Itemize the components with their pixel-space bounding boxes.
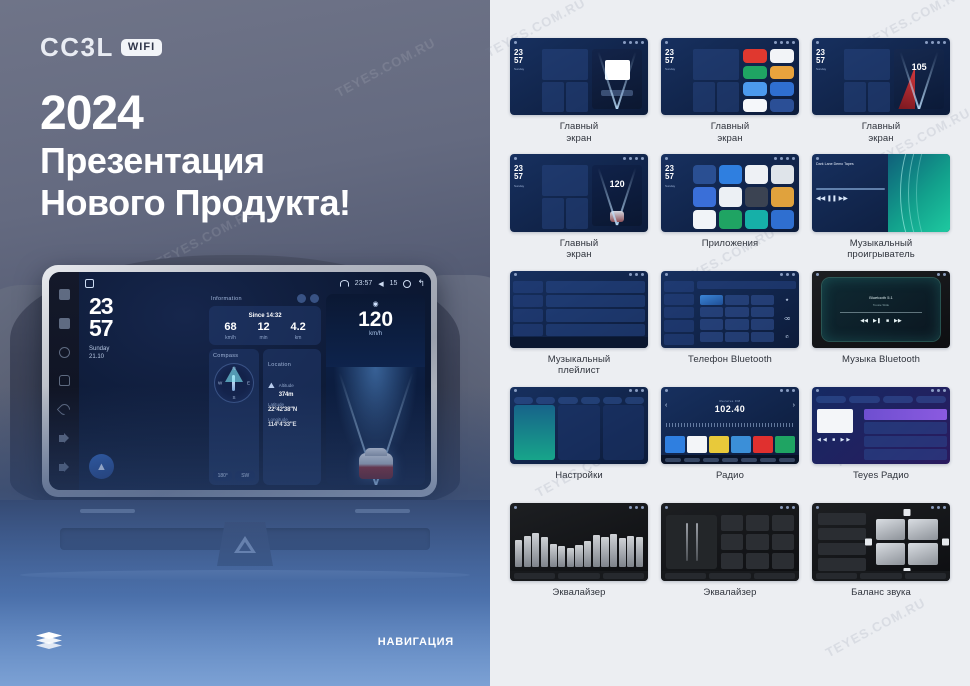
product-logo: CC3L WIFI (40, 32, 162, 63)
status-bar: 23:57 ◀ 15 ↰ (85, 277, 425, 290)
grid-item-label: Главныйэкран (560, 121, 599, 145)
head-unit: 23:57 ◀ 15 ↰ 23 57 Sunday (42, 265, 437, 497)
wifi-icon (340, 280, 349, 287)
clock-widget[interactable]: 23 57 Sunday 21.10 ▲ (85, 294, 204, 485)
compass-s: S (232, 395, 235, 400)
grid-item-label: Музыка Bluetooth (842, 354, 920, 378)
stat-speed: 68 km/h (224, 322, 236, 341)
compass-bearing: 180° (213, 471, 232, 481)
prev-icon: ◀◀ (860, 318, 868, 324)
volume-up-icon[interactable] (59, 462, 70, 473)
air-vent-right (250, 528, 430, 550)
carplay-card[interactable] (558, 405, 599, 460)
minus-icon[interactable] (59, 289, 70, 300)
clock-minutes: 57 (89, 318, 202, 340)
thumbnail-teyes-radio[interactable]: ◀◀ ■ ▶▶ (812, 387, 950, 464)
refresh-icon[interactable] (297, 294, 306, 303)
home-icon[interactable] (59, 375, 70, 386)
logo-text: CC3L (40, 32, 114, 63)
grid-item-label: Главныйэкран (862, 121, 901, 145)
player-controls[interactable]: ◀◀ ■ ▶▶ (817, 437, 852, 443)
track-title: Dark Lane Demo Tapes (816, 162, 885, 166)
preset-tiles[interactable] (665, 436, 795, 453)
speed-value: 120 (592, 179, 642, 189)
information-widget[interactable]: Information Since 14:32 (209, 294, 321, 345)
grid-item-label: Телефон Bluetooth (688, 354, 772, 378)
volume-icon: ◀ (378, 280, 383, 288)
hazard-button[interactable] (217, 522, 273, 566)
compass-e: E (247, 381, 250, 386)
navigation-arrow-icon[interactable]: ▲ (89, 454, 114, 479)
compass-direction: SW (235, 471, 254, 481)
prev-station-icon[interactable]: ‹ (665, 402, 667, 409)
bt-controls[interactable]: ◀◀▶❚■▶▶ (860, 318, 901, 324)
infotainment-screen[interactable]: 23:57 ◀ 15 ↰ 23 57 Sunday (79, 272, 431, 490)
latitude-value: 22°42'38"N (268, 407, 316, 413)
grid-item-label: Приложения (702, 238, 759, 262)
grid-item[interactable]: 2357Sunday 120 Главныйэкран (510, 154, 648, 261)
presentation-page: CC3L WIFI 2024 Презентация Нового Продук… (0, 0, 970, 686)
speed-unit: km/h (369, 331, 382, 337)
preset-buttons[interactable] (721, 515, 794, 568)
clock-day: Sunday (89, 345, 202, 353)
grid-item[interactable]: Настройки (510, 387, 648, 494)
compass-title: Compass (213, 353, 255, 359)
back-icon[interactable] (56, 402, 72, 418)
thumbnail-equalizer-2[interactable] (661, 503, 799, 580)
car-graphic (359, 453, 393, 479)
grid-item[interactable]: 2357Sunday 105 Главныйэкран (812, 38, 950, 145)
grid-item-label: Эквалайзер (703, 587, 756, 611)
compass-w: W (218, 381, 222, 386)
grid-item[interactable]: Баланс звука (812, 503, 950, 610)
stat-distance: 4.2 km (290, 322, 305, 341)
information-title: Information (211, 296, 242, 302)
grid-item[interactable]: Bluetooth 5.1 Toosie Slide ◀◀▶❚■▶▶ Музык… (812, 271, 950, 378)
thumbnail-bt-music[interactable]: Bluetooth 5.1 Toosie Slide ◀◀▶❚■▶▶ (812, 271, 950, 348)
thumbnail-music-player[interactable]: Dark Lane Demo Tapes ◀◀ ❚❚ ▶▶ (812, 154, 950, 231)
navigation-label: НАВИГАЦИЯ (378, 636, 454, 648)
air-vent-left (60, 528, 240, 550)
volume-down-icon[interactable] (59, 433, 70, 444)
grid-item[interactable]: ◀◀ ■ ▶▶ Teyes Радио (812, 387, 950, 494)
grid-item[interactable]: 2357Sunday Главныйэкран (661, 38, 799, 145)
grid-item[interactable]: Dark Lane Demo Tapes ◀◀ ❚❚ ▶▶ Музыкальны… (812, 154, 950, 261)
bt-track: Toosie Slide (873, 303, 889, 307)
fader-sliders[interactable] (666, 515, 717, 568)
grid-item-label: Teyes Радио (853, 470, 909, 494)
mountain-icon: ⛰ (268, 381, 275, 391)
altitude-value: 374m (279, 392, 294, 398)
compass-widget[interactable]: Compass N E S W (209, 349, 259, 485)
speed-value: 120 (358, 309, 393, 330)
minus-icon[interactable] (59, 318, 70, 329)
grid-item-label: Радио (716, 470, 744, 494)
thumbnail-balance[interactable] (812, 503, 950, 580)
thumbnail-home-apps[interactable]: 2357Sunday (661, 38, 799, 115)
play-icon: ▶❚ (873, 318, 881, 324)
stop-icon: ■ (886, 318, 889, 324)
back-icon[interactable]: ↰ (417, 279, 425, 288)
compass-rose-icon: N E S W (214, 363, 254, 403)
balance-right-button[interactable] (942, 538, 949, 545)
thumbnail-playlist[interactable] (510, 271, 648, 348)
music-visualizer (888, 154, 950, 231)
home-icon[interactable] (85, 279, 94, 288)
thumbnail-home-speed[interactable]: 2357Sunday 120 (510, 154, 648, 231)
longitude-value: 114°4'33"E (268, 422, 316, 428)
center-console (0, 500, 490, 686)
wifi-badge: WIFI (121, 39, 162, 56)
speed-value: 105 (894, 62, 944, 72)
call-icon[interactable]: ✆ (785, 334, 788, 339)
next-station-icon[interactable]: › (793, 402, 795, 409)
thumbnail-home-speed-red[interactable]: 2357Sunday 105 (812, 38, 950, 115)
gear-icon[interactable] (403, 280, 411, 288)
hero-line-1: Презентация (40, 140, 351, 182)
grid-item[interactable]: ★ ⌫ ✆ Телефон Bluetooth (661, 271, 799, 378)
layers-icon[interactable] (36, 632, 62, 652)
trip-stats: 68 km/h 12 min (214, 322, 316, 341)
compass-n: N (232, 366, 235, 371)
clock-date: 21.10 (89, 353, 202, 361)
grid-item-label: Главныйэкран (560, 238, 599, 262)
balance-left-button[interactable] (865, 538, 872, 545)
hazard-triangle-icon (234, 536, 256, 553)
backspace-icon[interactable]: ⌫ (784, 316, 790, 321)
next-icon: ▶▶ (894, 318, 902, 324)
hero-year: 2024 (40, 88, 351, 140)
hero-footer: НАВИГАЦИЯ (0, 632, 490, 652)
balance-presets[interactable] (818, 513, 866, 570)
location-title: Location (268, 362, 291, 368)
status-volume: 15 (390, 280, 398, 287)
grid-item[interactable]: Музыкальныйплейлист (510, 271, 648, 378)
player-dock[interactable] (510, 337, 648, 348)
more-card[interactable] (603, 405, 644, 460)
grid-item-label: Баланс звука (851, 587, 911, 611)
vent-highlight (80, 509, 135, 513)
radio-band: Receive FM (661, 399, 799, 403)
thumbnail-equalizer[interactable] (510, 503, 648, 580)
page-title: 2024 Презентация Нового Продукта! (40, 88, 351, 225)
expand-icon[interactable] (310, 294, 319, 303)
favorite-icon[interactable]: ★ (785, 297, 789, 302)
grid-item[interactable]: 2357Sunday Главныйэкран (510, 38, 648, 145)
status-time: 23:57 (355, 280, 373, 287)
side-button-rail[interactable] (49, 272, 79, 490)
speed-widget[interactable]: ◉ 120 km/h (326, 294, 425, 485)
grid-item[interactable]: 2357Sunday Приложения (661, 154, 799, 261)
hero-panel: CC3L WIFI 2024 Презентация Нового Продук… (0, 0, 490, 686)
stat-duration: 12 min (257, 322, 269, 341)
balance-up-button[interactable] (903, 509, 910, 516)
grid-item[interactable]: Эквалайзер (510, 503, 648, 610)
thumbnail-apps[interactable]: 2357Sunday (661, 154, 799, 231)
trip-since: Since 14:32 (214, 313, 316, 319)
screens-grid-panel: TEYES.COM.RU TEYES.COM.RU TEYES.COM.RU T… (490, 0, 970, 686)
grid-item-label: Музыкальныйпроигрыватель (847, 238, 915, 262)
altitude-label: Altitude (279, 383, 294, 388)
grid-item-label: Настройки (555, 470, 602, 494)
wifi-card[interactable] (514, 405, 555, 460)
location-widget[interactable]: Location ⛰ Altitude 374m (263, 349, 321, 485)
speed-icon: ◉ (373, 300, 379, 308)
screens-grid: 2357Sunday Главныйэкран 2357Sunday (510, 38, 950, 611)
grid-item-label: Музыкальныйплейлист (548, 354, 611, 378)
grid-item[interactable]: Эквалайзер (661, 503, 799, 610)
speaker-balance-pad[interactable] (870, 513, 944, 570)
equalizer-sliders[interactable] (510, 511, 648, 570)
console-ridge (20, 570, 470, 580)
vent-highlight (355, 509, 410, 513)
thumbnail-radio[interactable]: Receive FM 102.40 ‹ › (661, 387, 799, 464)
radio-frequency: Receive FM 102.40 (661, 399, 799, 414)
thumbnail-home-media[interactable]: 2357Sunday (510, 38, 648, 115)
hero-line-2: Нового Продукта! (40, 182, 351, 224)
grid-item[interactable]: Receive FM 102.40 ‹ › Радио (661, 387, 799, 494)
grid-item-label: Эквалайзер (552, 587, 605, 611)
thumbnail-bt-phone[interactable]: ★ ⌫ ✆ (661, 271, 799, 348)
bt-version: Bluetooth 5.1 (869, 295, 893, 300)
grid-item-label: Главныйэкран (711, 121, 750, 145)
power-icon[interactable] (59, 347, 70, 358)
thumbnail-settings[interactable] (510, 387, 648, 464)
